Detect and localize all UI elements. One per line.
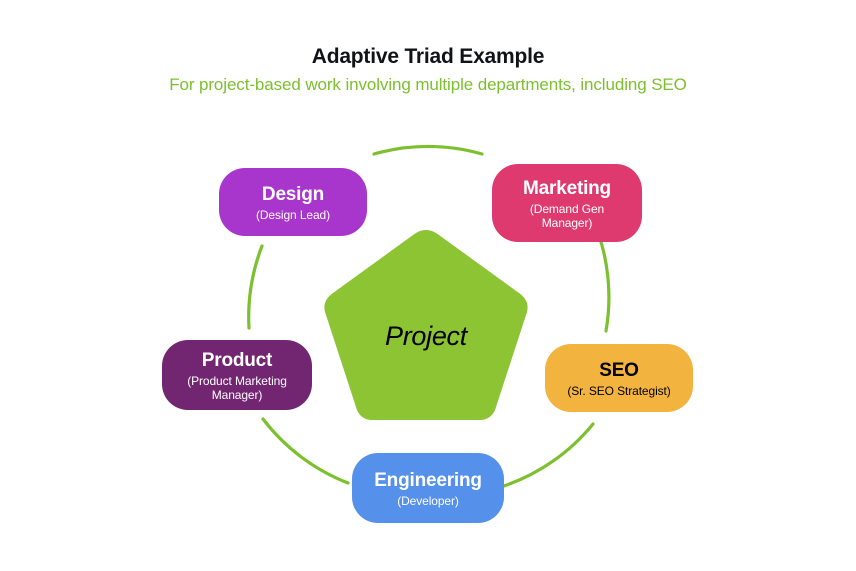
node-design-title: Design: [262, 183, 324, 206]
node-product[interactable]: Product (Product Marketing Manager): [162, 340, 312, 410]
page-title: Adaptive Triad Example: [0, 44, 856, 70]
connector-product-design: [249, 246, 262, 328]
node-design-subtitle: (Design Lead): [256, 208, 330, 222]
node-product-subtitle: (Product Marketing Manager): [174, 374, 300, 402]
center-node-project[interactable]: Project: [318, 226, 534, 430]
node-marketing-title: Marketing: [523, 177, 611, 200]
page-subtitle: For project-based work involving multipl…: [0, 73, 856, 97]
node-marketing[interactable]: Marketing (Demand Gen Manager): [492, 164, 642, 242]
node-product-title: Product: [202, 349, 272, 372]
node-marketing-subtitle: (Demand Gen Manager): [515, 202, 619, 230]
node-engineering-title: Engineering: [374, 469, 482, 492]
node-seo[interactable]: SEO (Sr. SEO Strategist): [545, 344, 693, 412]
node-design[interactable]: Design (Design Lead): [219, 168, 367, 236]
connector-seo-engineering: [504, 424, 593, 486]
diagram-canvas: Adaptive Triad Example For project-based…: [0, 0, 856, 571]
node-seo-subtitle: (Sr. SEO Strategist): [567, 384, 670, 398]
node-engineering[interactable]: Engineering (Developer): [352, 453, 504, 523]
header: Adaptive Triad Example For project-based…: [0, 44, 856, 97]
node-seo-title: SEO: [599, 359, 639, 382]
node-engineering-subtitle: (Developer): [397, 494, 459, 508]
center-node-label: Project: [318, 226, 534, 430]
connector-design-marketing: [374, 146, 482, 154]
